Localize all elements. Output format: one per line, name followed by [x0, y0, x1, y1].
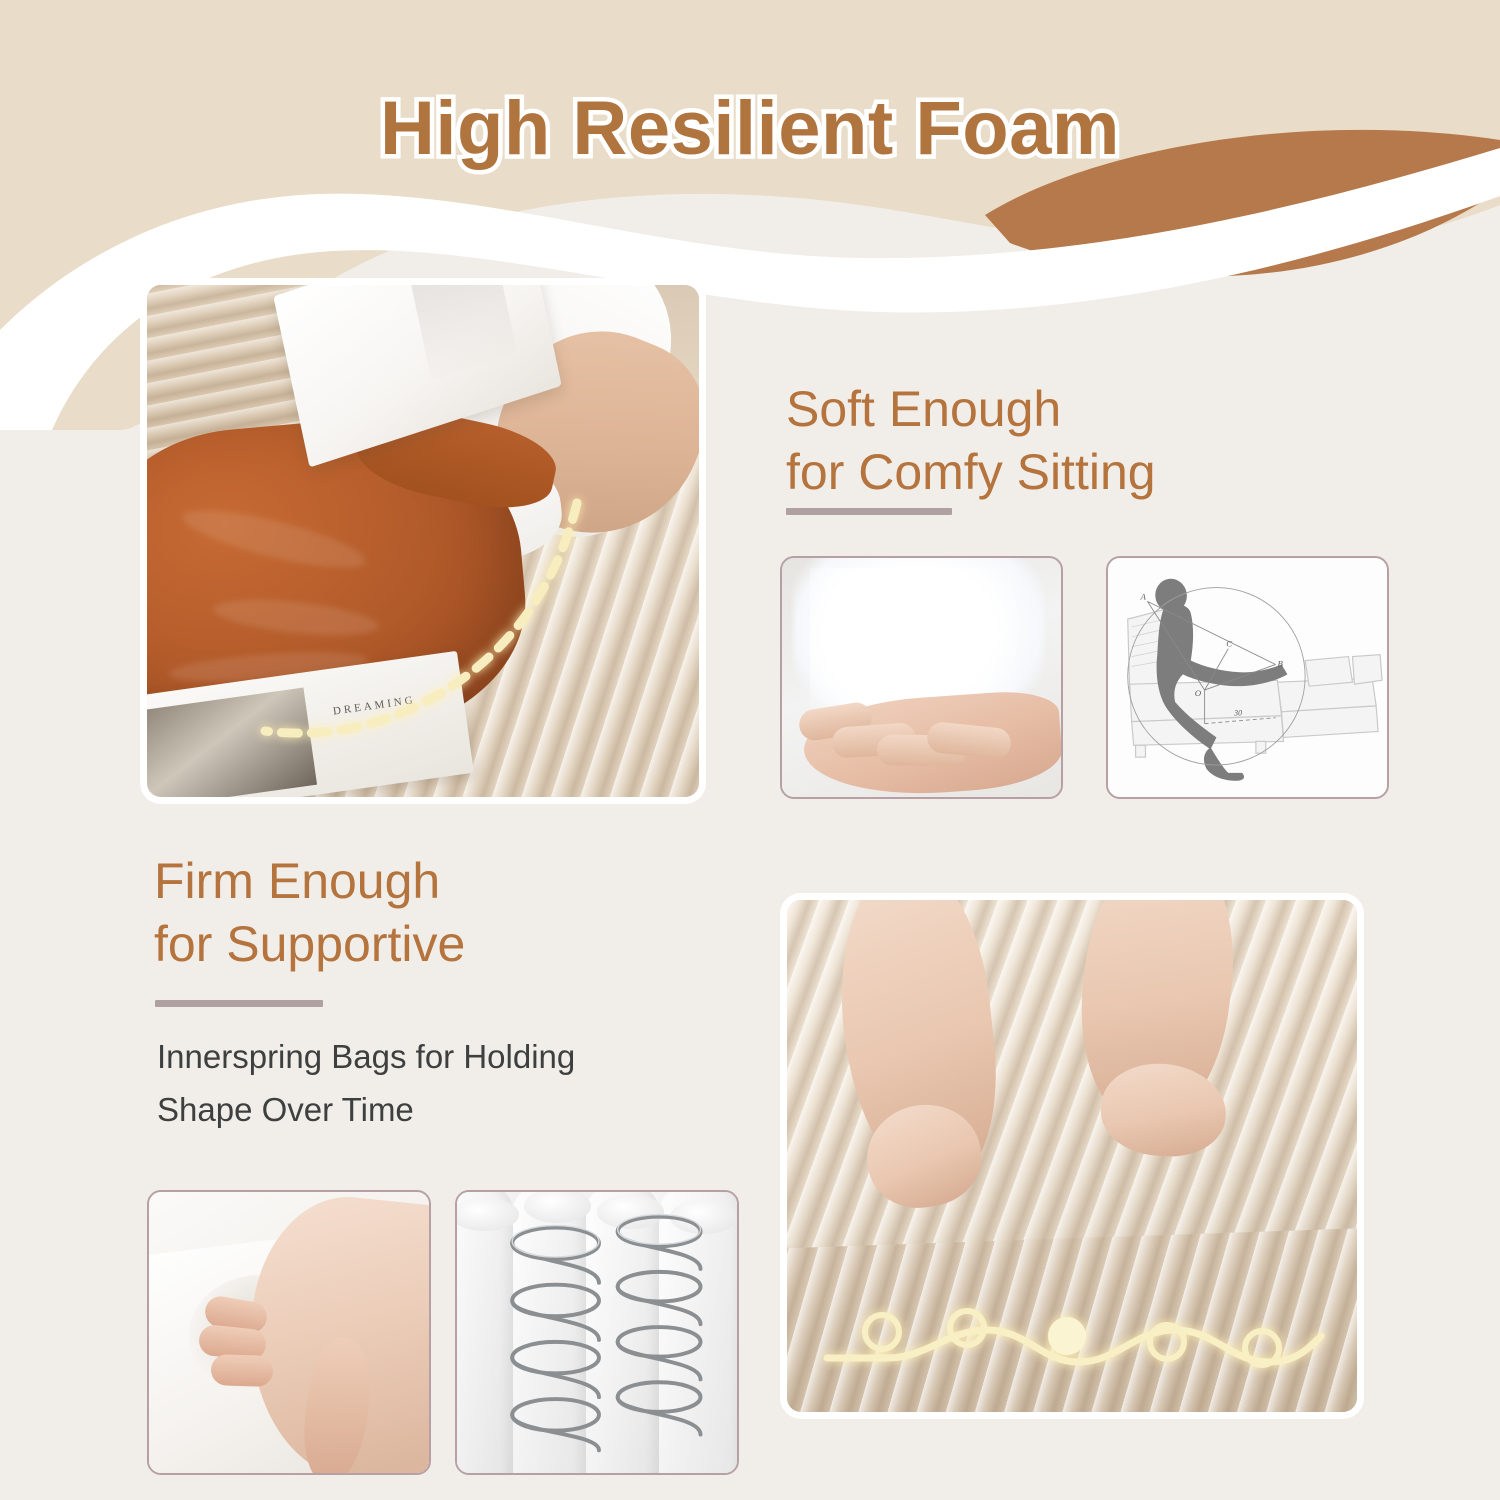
coil-springs — [457, 1192, 737, 1473]
page-title: High Resilient Foam — [0, 85, 1500, 172]
label-B: B — [1278, 658, 1284, 668]
heading-soft-enough: Soft Enough for Comfy Sitting — [786, 378, 1346, 504]
body-copy-firm: Innerspring Bags for Holding Shape Over … — [157, 1030, 757, 1137]
label-O: O — [1195, 688, 1202, 698]
heading-rule-soft — [786, 508, 952, 515]
heading-firm-enough: Firm Enough for Supportive — [154, 850, 754, 976]
magazine-cover-photo — [147, 687, 317, 797]
wavy-support-graphic — [787, 900, 1357, 1412]
photo-inner — [787, 900, 1357, 1412]
photo-ergonomic-seating-diagram: A B C O 30 — [1106, 556, 1389, 799]
heading-rule-firm — [155, 1000, 323, 1007]
magazine-title: DREAMING — [332, 694, 416, 717]
photo-inner — [782, 558, 1061, 797]
photo-fiberfill-in-hand — [780, 556, 1063, 799]
photo-inner — [149, 1192, 429, 1473]
photo-inner: A B C O 30 — [1108, 558, 1387, 797]
finger — [210, 1354, 273, 1387]
label-C: C — [1226, 639, 1232, 649]
photo-inner: DREAMING — [147, 285, 699, 797]
photo-person-sitting-on-sofa: DREAMING — [147, 285, 699, 797]
infographic-page: High Resilient Foam DREAMING — [0, 0, 1500, 1500]
seating-angle-diagram: A B C O 30 — [1108, 558, 1387, 797]
photo-feet-on-sofa — [787, 900, 1357, 1412]
photo-pocket-springs — [455, 1190, 739, 1475]
highlight-dot — [1048, 1317, 1086, 1355]
label-30: 30 — [1233, 709, 1242, 718]
photo-inner — [457, 1192, 737, 1473]
label-A: A — [1140, 591, 1147, 601]
photo-hand-pressing-foam — [147, 1190, 431, 1475]
